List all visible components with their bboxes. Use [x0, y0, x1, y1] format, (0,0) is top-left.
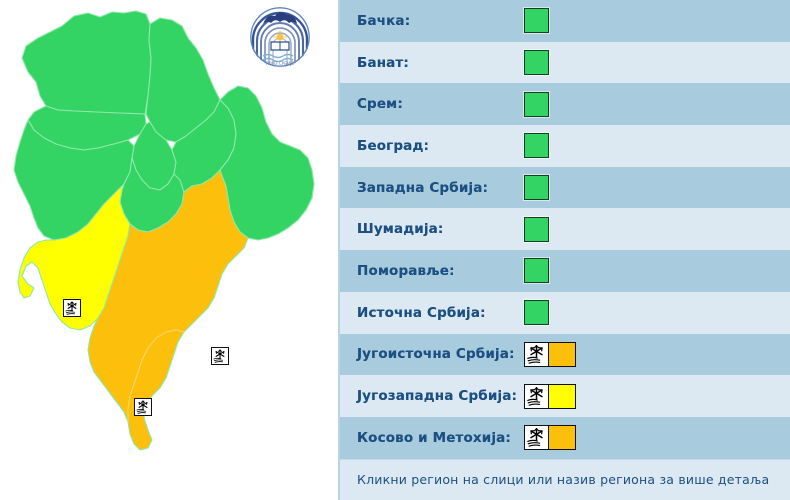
region-warning-indicator[interactable] — [524, 258, 549, 283]
region-row[interactable]: Шумадија: — [340, 208, 790, 250]
snow-warning-icon — [525, 385, 549, 408]
region-warning-indicator[interactable] — [524, 384, 576, 409]
region-name-label[interactable]: Шумадија: — [357, 221, 524, 237]
region-row[interactable]: Поморавље: — [340, 250, 790, 292]
warning-pair[interactable] — [524, 384, 576, 409]
region-row[interactable]: Београд: — [340, 125, 790, 167]
region-name-label[interactable]: Бачка: — [357, 13, 524, 29]
warning-level-swatch — [524, 217, 549, 242]
map-marker-snow-kosovo-metohija[interactable] — [134, 398, 152, 416]
warning-level-swatch — [524, 258, 549, 283]
region-name-label[interactable]: Источна Србија: — [357, 305, 524, 321]
snow-warning-icon — [525, 343, 549, 366]
snow-warning-icon — [525, 426, 549, 449]
region-warning-indicator[interactable] — [524, 217, 549, 242]
map-marker-snow-jugoistocna[interactable] — [211, 347, 229, 365]
region-name-label[interactable]: Срем: — [357, 96, 524, 112]
warning-pair[interactable] — [524, 342, 576, 367]
region-name-label[interactable]: Југоисточна Србија: — [357, 346, 524, 362]
warning-level-swatch — [524, 50, 549, 75]
region-rows: Бачка:Банат:Срем:Београд:Западна Србија:… — [340, 0, 790, 459]
region-name-label[interactable]: Западна Србија: — [357, 180, 524, 196]
region-row[interactable]: Срем: — [340, 83, 790, 125]
region-name-label[interactable]: Банат: — [357, 55, 524, 71]
warning-level-swatch — [524, 300, 549, 325]
map-instruction-text: Кликни регион на слици или назив региона… — [357, 472, 769, 487]
region-warning-indicator[interactable] — [524, 133, 549, 158]
map-marker-snow-jugozapadna[interactable] — [63, 299, 81, 317]
warning-level-swatch — [549, 385, 575, 408]
region-name-label[interactable]: Београд: — [357, 138, 524, 154]
region-warning-indicator[interactable] — [524, 300, 549, 325]
region-warning-indicator[interactable] — [524, 50, 549, 75]
region-name-label[interactable]: Косово и Метохија: — [357, 430, 524, 446]
region-warning-list: Бачка:Банат:Срем:Београд:Западна Србија:… — [340, 0, 790, 500]
region-warning-indicator[interactable] — [524, 8, 549, 33]
region-row[interactable]: Банат: — [340, 42, 790, 84]
region-row[interactable]: Косово и Метохија: — [340, 417, 790, 459]
region-name-label[interactable]: Југозападна Србија: — [357, 388, 524, 404]
rhmz-serbia-logo: РХМЗ СРБИЈЕ — [249, 6, 311, 70]
warning-level-swatch — [524, 8, 549, 33]
region-warning-indicator[interactable] — [524, 342, 576, 367]
weather-warning-page: РХМЗ СРБИЈЕ — [0, 0, 790, 500]
region-warning-indicator[interactable] — [524, 425, 576, 450]
region-warning-indicator[interactable] — [524, 92, 549, 117]
serbia-warning-map-panel: РХМЗ СРБИЈЕ — [0, 0, 340, 500]
warning-level-swatch — [524, 92, 549, 117]
warning-level-swatch — [549, 426, 575, 449]
warning-pair[interactable] — [524, 425, 576, 450]
warning-level-swatch — [524, 133, 549, 158]
logo-caption: РХМЗ СРБИЈЕ — [266, 61, 295, 66]
map-instruction-row: Кликни регион на слици или назив региона… — [340, 459, 790, 500]
region-row[interactable]: Бачка: — [340, 0, 790, 42]
warning-level-swatch — [524, 175, 549, 200]
region-row[interactable]: Источна Србија: — [340, 292, 790, 334]
region-row[interactable]: Југозападна Србија: — [340, 375, 790, 417]
region-warning-indicator[interactable] — [524, 175, 549, 200]
warning-level-swatch — [549, 343, 575, 366]
region-name-label[interactable]: Поморавље: — [357, 263, 524, 279]
serbia-region-map[interactable] — [0, 0, 340, 500]
region-row[interactable]: Западна Србија: — [340, 167, 790, 209]
region-row[interactable]: Југоисточна Србија: — [340, 334, 790, 376]
